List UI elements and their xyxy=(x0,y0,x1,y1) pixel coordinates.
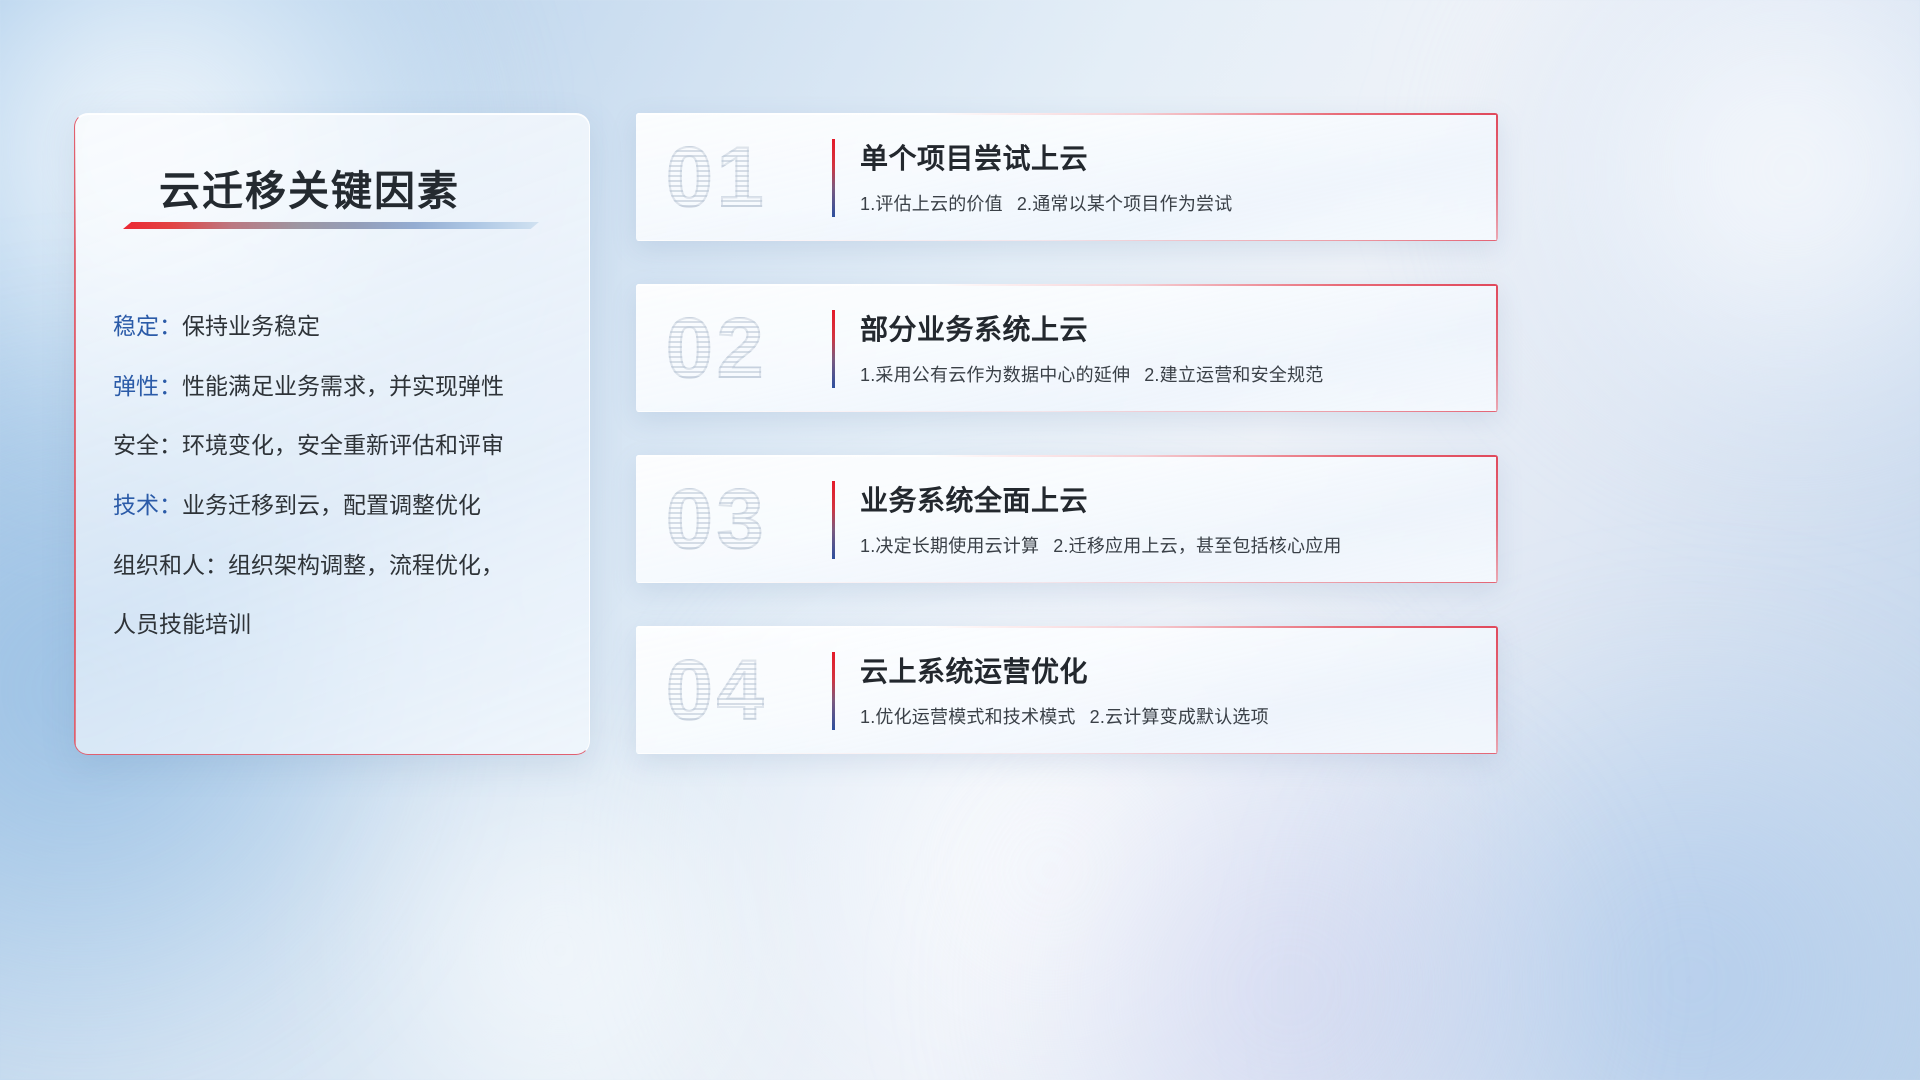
stage-card[interactable]: 04 云上系统运营优化 1.优化运营模式和技术模式2.云计算变成默认选项 xyxy=(636,626,1498,754)
stage-card-heading: 部分业务系统上云 xyxy=(860,308,1472,348)
stage-number: 02 xyxy=(666,306,767,390)
stage-cards-list: 01 单个项目尝试上云 1.评估上云的价值2.通常以某个项目作为尝试 02 部分… xyxy=(636,113,1498,797)
stage-card-subtitle: 1.优化运营模式和技术模式2.云计算变成默认选项 xyxy=(860,703,1472,729)
list-item: 技术：业务迁移到云，配置调整优化 xyxy=(113,489,567,522)
stage-accent-bar xyxy=(832,139,835,217)
list-item-text: 业务迁移到云，配置调整优化 xyxy=(182,492,481,518)
list-item-label: 技术： xyxy=(113,492,182,518)
list-item-text: 性能满足业务需求，并实现弹性 xyxy=(182,373,504,399)
stage-card-bottom-rule xyxy=(636,411,1498,412)
stage-accent-bar xyxy=(832,481,835,559)
stage-point-1: 1.采用公有云作为数据中心的延伸 xyxy=(860,365,1130,385)
list-item: 组织和人：组织架构调整，流程优化， xyxy=(113,549,567,582)
list-item-continuation: 人员技能培训 xyxy=(113,608,567,641)
stage-card-subtitle: 1.决定长期使用云计算2.迁移应用上云，甚至包括核心应用 xyxy=(860,532,1472,558)
stage-accent-bar xyxy=(832,310,835,388)
list-item: 稳定：保持业务稳定 xyxy=(113,310,567,343)
stage-card-text: 部分业务系统上云 1.采用公有云作为数据中心的延伸2.建立运营和安全规范 xyxy=(860,308,1472,387)
stage-card[interactable]: 02 部分业务系统上云 1.采用公有云作为数据中心的延伸2.建立运营和安全规范 xyxy=(636,284,1498,412)
list-item-text: 人员技能培训 xyxy=(113,611,251,637)
stage-card[interactable]: 03 业务系统全面上云 1.决定长期使用云计算2.迁移应用上云，甚至包括核心应用 xyxy=(636,455,1498,583)
stage-card-text: 云上系统运营优化 1.优化运营模式和技术模式2.云计算变成默认选项 xyxy=(860,650,1472,729)
stage-card-subtitle: 1.采用公有云作为数据中心的延伸2.建立运营和安全规范 xyxy=(860,361,1472,387)
stage-point-1: 1.评估上云的价值 xyxy=(860,194,1003,214)
stage-card-subtitle: 1.评估上云的价值2.通常以某个项目作为尝试 xyxy=(860,190,1472,216)
slide-stage: 云迁移关键因素 稳定：保持业务稳定 弹性：性能满足业务需求，并实现弹性 安全：环… xyxy=(0,0,1920,1080)
stage-card-heading: 云上系统运营优化 xyxy=(860,650,1472,690)
page-title: 云迁移关键因素 xyxy=(159,157,460,217)
stage-point-2: 2.云计算变成默认选项 xyxy=(1090,707,1269,727)
title-underline-rule xyxy=(123,222,539,229)
key-factors-list: 稳定：保持业务稳定 弹性：性能满足业务需求，并实现弹性 安全：环境变化，安全重新… xyxy=(113,310,567,641)
stage-number: 04 xyxy=(666,648,767,732)
stage-point-2: 2.迁移应用上云，甚至包括核心应用 xyxy=(1053,536,1341,556)
stage-card-bottom-rule xyxy=(636,582,1498,583)
list-item-text: 保持业务稳定 xyxy=(182,313,320,339)
list-item-label: 安全： xyxy=(113,432,182,458)
list-item: 弹性：性能满足业务需求，并实现弹性 xyxy=(113,370,567,403)
stage-card-text: 单个项目尝试上云 1.评估上云的价值2.通常以某个项目作为尝试 xyxy=(860,137,1472,216)
stage-card-text: 业务系统全面上云 1.决定长期使用云计算2.迁移应用上云，甚至包括核心应用 xyxy=(860,479,1472,558)
stage-accent-bar xyxy=(832,652,835,730)
stage-point-2: 2.通常以某个项目作为尝试 xyxy=(1017,194,1233,214)
stage-point-1: 1.优化运营模式和技术模式 xyxy=(860,707,1076,727)
stage-card-bottom-rule xyxy=(636,240,1498,241)
stage-card-bottom-rule xyxy=(636,753,1498,754)
list-item-label: 组织和人： xyxy=(113,552,228,578)
key-factors-panel: 云迁移关键因素 稳定：保持业务稳定 弹性：性能满足业务需求，并实现弹性 安全：环… xyxy=(74,113,590,755)
list-item-text: 组织架构调整，流程优化， xyxy=(228,552,504,578)
list-item: 安全：环境变化，安全重新评估和评审 xyxy=(113,429,567,462)
stage-number: 03 xyxy=(666,477,767,561)
stage-number: 01 xyxy=(666,135,767,219)
stage-card-heading: 业务系统全面上云 xyxy=(860,479,1472,519)
list-item-label: 稳定： xyxy=(113,313,182,339)
list-item-label: 弹性： xyxy=(113,373,182,399)
list-item-text: 环境变化，安全重新评估和评审 xyxy=(182,432,504,458)
stage-point-1: 1.决定长期使用云计算 xyxy=(860,536,1039,556)
stage-card-heading: 单个项目尝试上云 xyxy=(860,137,1472,177)
stage-card[interactable]: 01 单个项目尝试上云 1.评估上云的价值2.通常以某个项目作为尝试 xyxy=(636,113,1498,241)
stage-point-2: 2.建立运营和安全规范 xyxy=(1144,365,1323,385)
